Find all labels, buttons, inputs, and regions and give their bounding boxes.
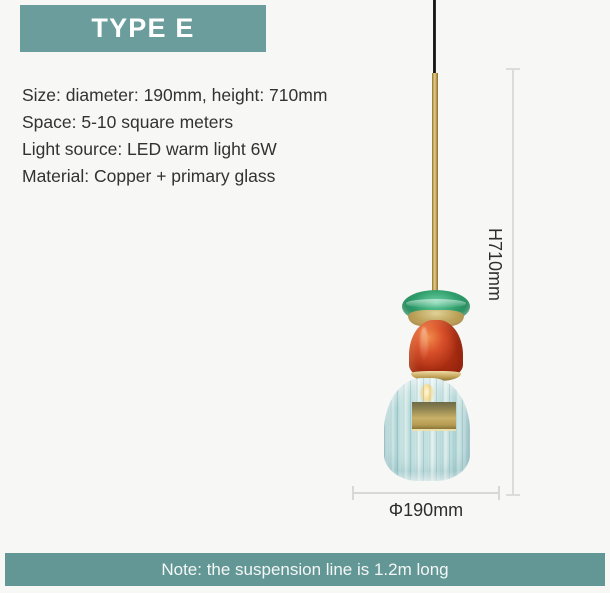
type-badge-label: TYPE E	[91, 13, 194, 44]
brass-stem-rod	[432, 73, 438, 296]
type-badge: TYPE E	[20, 5, 266, 52]
height-dimension-line	[506, 68, 520, 496]
diameter-dimension-label: Φ190mm	[352, 500, 500, 521]
pendant-lamp-illustration	[352, 0, 502, 500]
product-spec-image: TYPE E Size: diameter: 190mm, height: 71…	[0, 0, 610, 593]
dimension-line-horizontal	[352, 492, 500, 494]
height-dimension-label: H710mm	[484, 228, 505, 301]
shade-rib-texture	[384, 378, 470, 481]
diameter-dimension-line	[352, 486, 500, 500]
suspension-cord	[433, 0, 436, 74]
dimension-tick-right	[498, 486, 500, 500]
blue-ribbed-glass-shade	[384, 378, 470, 481]
note-bar: Note: the suspension line is 1.2m long	[5, 553, 605, 586]
shade-bottom-rim	[384, 471, 470, 481]
orange-glass-dome	[409, 320, 463, 377]
dimension-tick-bottom	[506, 494, 520, 496]
note-bar-label: Note: the suspension line is 1.2m long	[161, 560, 448, 580]
dimension-line-vertical	[512, 68, 514, 496]
brass-plate	[412, 402, 456, 429]
